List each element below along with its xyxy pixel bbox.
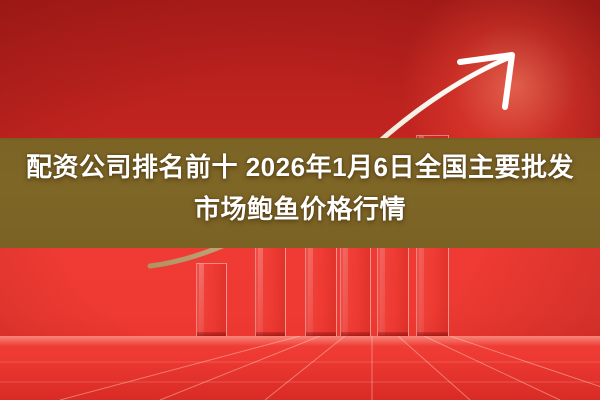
- headline-line-2: 市场鲍鱼价格行情: [0, 188, 600, 230]
- bar-base: [197, 332, 226, 336]
- chart-bar: [196, 263, 227, 336]
- bar-sheen: [258, 239, 263, 336]
- bar-base: [256, 332, 285, 336]
- bar-base: [306, 332, 336, 336]
- headline-line-1: 配资公司排名前十 2026年1月6日全国主要批发: [26, 152, 574, 182]
- gold-band-edge: [0, 138, 600, 140]
- page-title: 配资公司排名前十 2026年1月6日全国主要批发 市场鲍鱼价格行情: [0, 146, 600, 230]
- bar-base: [341, 332, 370, 336]
- bar-sheen: [199, 264, 204, 336]
- bar-base: [378, 332, 408, 336]
- chart-bar: [255, 238, 286, 336]
- banner-image: 配资公司排名前十 2026年1月6日全国主要批发 市场鲍鱼价格行情: [0, 0, 600, 400]
- bar-base: [417, 332, 448, 336]
